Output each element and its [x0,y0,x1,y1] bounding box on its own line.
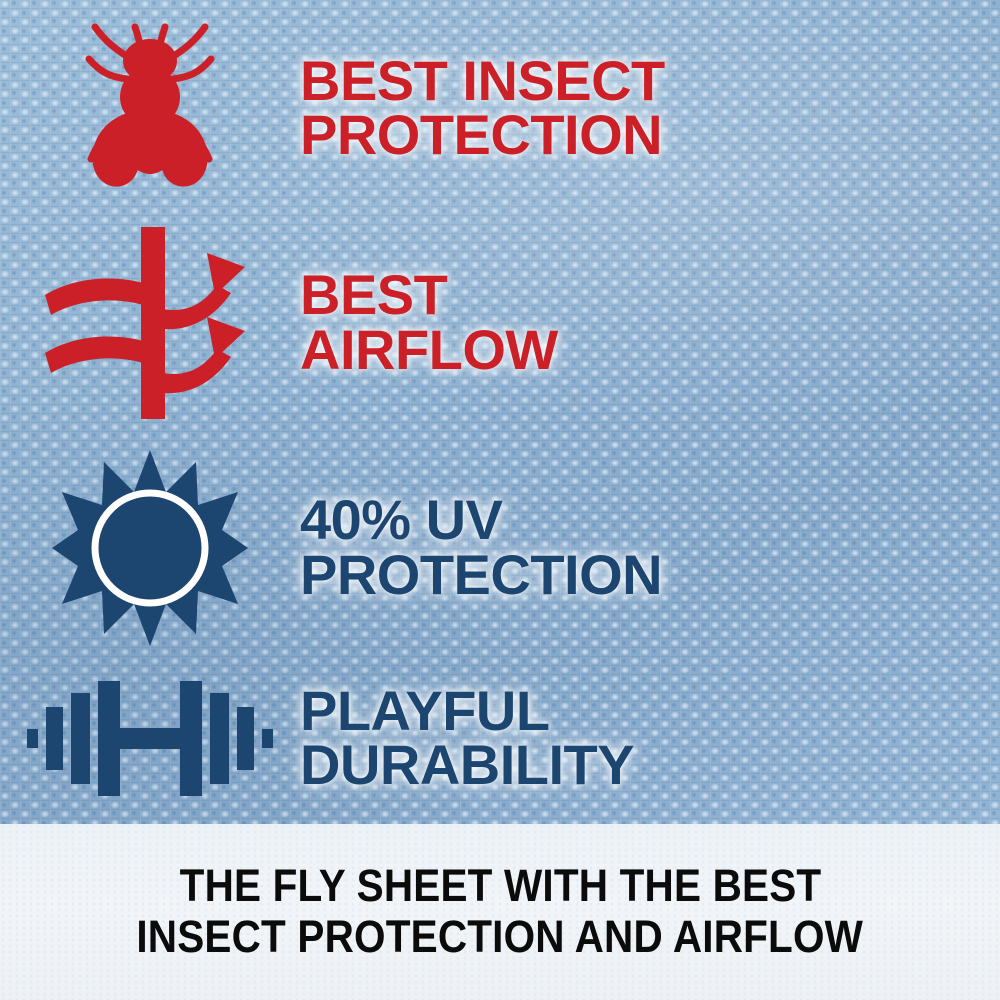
feature-line-1: BEST INSECT [300,54,665,108]
fly-icon-cell [0,13,300,203]
banner-line-1: THE FLY SHEET WITH THE BEST [179,861,821,912]
insect-protection-text: BEST INSECT PROTECTION [300,54,665,163]
sun-uv-icon [50,448,250,648]
feature-line-1: BEST [300,268,558,322]
dumbbell-icon-cell [0,671,300,806]
airflow-icon-cell [0,223,300,423]
durability-text: PLAYFUL DURABILITY [300,684,634,793]
feature-line-2: AIRFLOW [300,323,558,377]
sun-uv-icon-cell [0,448,300,648]
uv-protection-text: 40% UV PROTECTION [300,493,662,602]
dumbbell-icon [25,671,275,806]
feature-line-2: DURABILITY [300,738,634,792]
feature-row-uv-protection: 40% UV PROTECTION [0,440,1000,655]
feature-line-2: PROTECTION [300,108,665,162]
feature-row-durability: PLAYFUL DURABILITY [0,648,1000,828]
feature-line-1: 40% UV [300,493,662,547]
fly-icon [75,13,225,203]
feature-line-1: PLAYFUL [300,684,634,738]
feature-row-airflow: BEST AIRFLOW [0,215,1000,430]
feature-line-2: PROTECTION [300,548,662,602]
product-feature-infographic: BEST INSECT PROTECTION [0,0,1000,1000]
bottom-tagline-banner: THE FLY SHEET WITH THE BEST INSECT PROTE… [0,824,1000,1000]
banner-line-2: INSECT PROTECTION AND AIRFLOW [137,912,864,963]
feature-row-insect-protection: BEST INSECT PROTECTION [0,8,1000,208]
airflow-text: BEST AIRFLOW [300,268,558,377]
airflow-icon [35,223,265,423]
